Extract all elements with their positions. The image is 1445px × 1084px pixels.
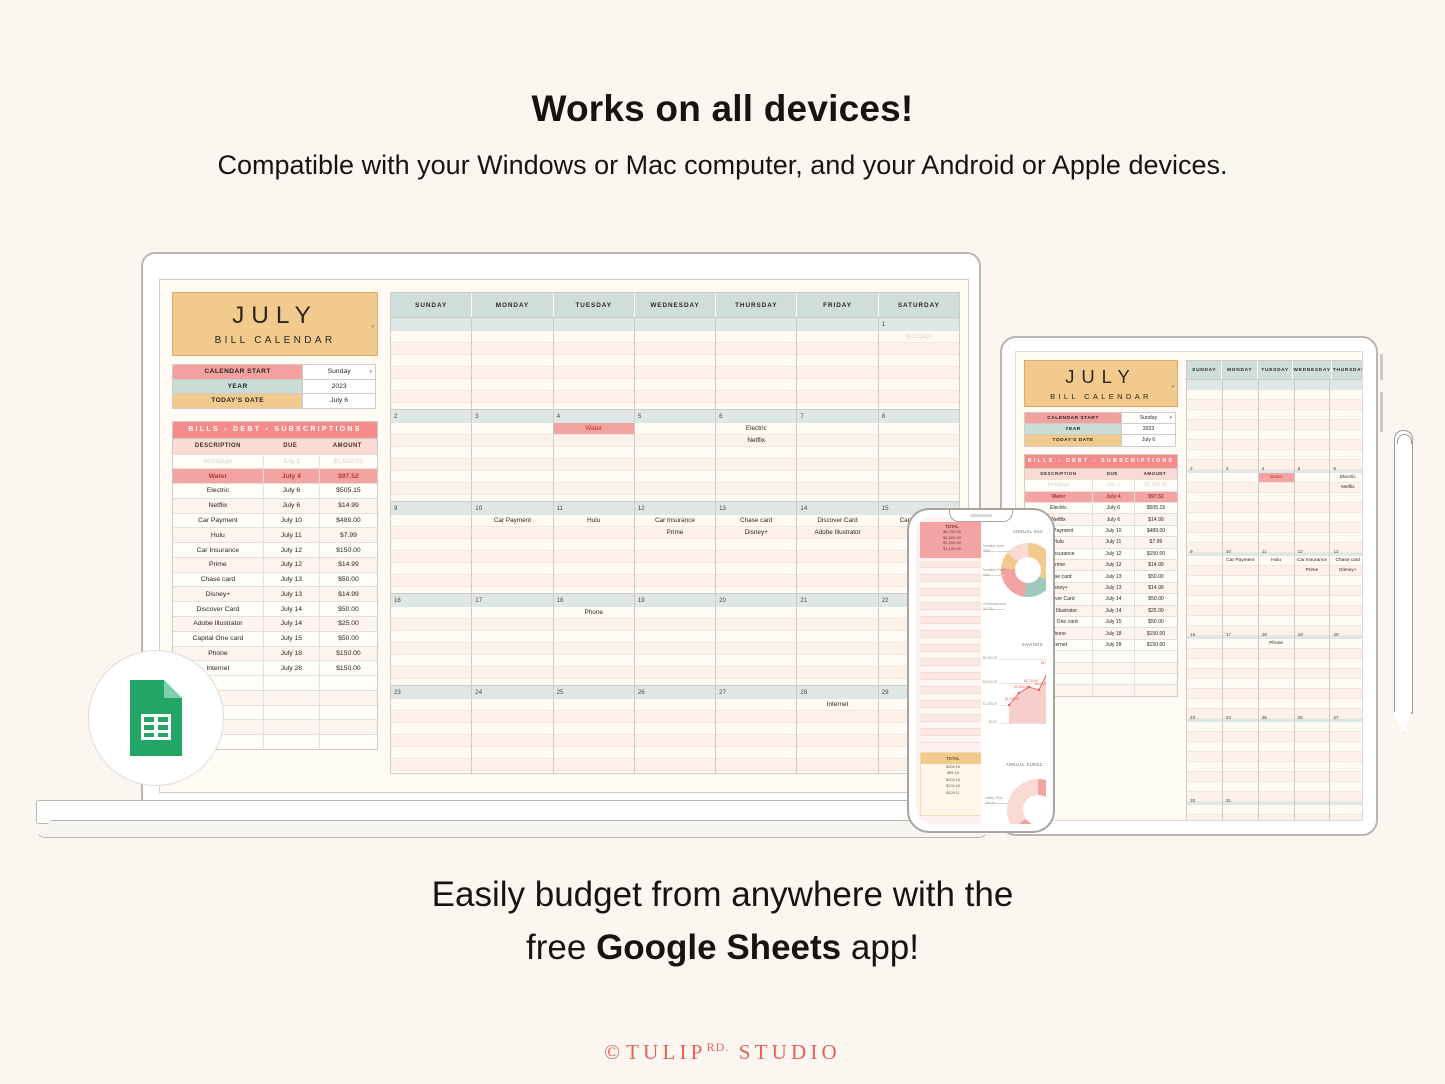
calendar-empty-line[interactable]: [1223, 533, 1258, 543]
date-number[interactable]: 4: [1259, 463, 1295, 473]
calendar-empty-line[interactable]: [1295, 782, 1330, 792]
calendar-event[interactable]: Hulu: [1259, 556, 1294, 566]
calendar-empty-line[interactable]: [472, 379, 552, 391]
date-number[interactable]: [797, 318, 878, 331]
calendar-empty-line[interactable]: [554, 343, 634, 355]
calendar-empty-line[interactable]: [716, 539, 796, 551]
calendar-empty-line[interactable]: [716, 699, 796, 711]
date-number[interactable]: [1223, 380, 1259, 390]
calendar-empty-line[interactable]: [1223, 513, 1258, 523]
calendar-empty-line[interactable]: [797, 379, 877, 391]
calendar-empty-line[interactable]: [1330, 576, 1363, 586]
calendar-empty-line[interactable]: [1295, 430, 1330, 440]
calendar-empty-line[interactable]: [472, 667, 552, 679]
calendar-empty-line[interactable]: [716, 459, 796, 471]
date-number[interactable]: 27: [1330, 712, 1363, 722]
calendar-empty-line[interactable]: [1223, 772, 1258, 782]
date-number[interactable]: 10: [472, 502, 553, 515]
calendar-empty-line[interactable]: [1223, 649, 1258, 659]
calendar-empty-line[interactable]: [716, 735, 796, 747]
bill-row[interactable]: Netflix July 6 $14.99: [173, 498, 377, 513]
calendar-empty-line[interactable]: [472, 551, 552, 563]
date-number[interactable]: 26: [1295, 712, 1331, 722]
calendar-empty-line[interactable]: [797, 331, 877, 343]
date-number[interactable]: 18: [554, 594, 635, 607]
calendar-empty-line[interactable]: [391, 367, 471, 379]
calendar-day-cell[interactable]: [1259, 805, 1295, 821]
calendar-empty-line[interactable]: [1295, 639, 1330, 649]
calendar-empty-line[interactable]: [716, 483, 796, 495]
date-number[interactable]: 19: [1295, 629, 1331, 639]
calendar-empty-line[interactable]: [472, 447, 552, 459]
calendar-empty-line[interactable]: [635, 607, 715, 619]
calendar-empty-line[interactable]: [1259, 732, 1294, 742]
calendar-empty-line[interactable]: [554, 539, 634, 551]
calendar-empty-line[interactable]: [554, 447, 634, 459]
calendar-empty-line[interactable]: [1223, 805, 1258, 815]
calendar-empty-line[interactable]: [716, 391, 796, 403]
calendar-empty-line[interactable]: [635, 759, 715, 771]
calendar-event[interactable]: Prime: [1295, 566, 1330, 576]
calendar-empty-line[interactable]: [716, 367, 796, 379]
date-number[interactable]: [391, 318, 472, 331]
calendar-empty-line[interactable]: [391, 435, 471, 447]
calendar-empty-line[interactable]: [391, 747, 471, 759]
calendar-empty-line[interactable]: [797, 747, 877, 759]
calendar-empty-line[interactable]: [716, 771, 796, 774]
calendar-day-cell[interactable]: [797, 423, 878, 501]
calendar-empty-line[interactable]: [1330, 493, 1363, 503]
calendar-empty-line[interactable]: [1330, 762, 1363, 772]
calendar-empty-line[interactable]: [1259, 503, 1294, 513]
calendar-empty-line[interactable]: [554, 551, 634, 563]
calendar-empty-line[interactable]: [1187, 606, 1222, 616]
date-number[interactable]: [716, 318, 797, 331]
calendar-day-cell[interactable]: Phone: [554, 607, 635, 685]
calendar-empty-line[interactable]: [879, 423, 959, 435]
date-number[interactable]: 28: [797, 686, 878, 699]
calendar-empty-line[interactable]: [1330, 815, 1363, 821]
date-number[interactable]: 17: [472, 594, 553, 607]
calendar-empty-line[interactable]: [797, 575, 877, 587]
date-number[interactable]: 2: [1187, 463, 1223, 473]
date-number[interactable]: 5: [635, 410, 716, 423]
calendar-empty-line[interactable]: [1187, 483, 1222, 493]
calendar-day-cell[interactable]: Hulu: [1259, 556, 1295, 628]
calendar-empty-line[interactable]: [635, 723, 715, 735]
calendar-empty-line[interactable]: [1259, 805, 1294, 815]
calendar-empty-line[interactable]: [554, 563, 634, 575]
calendar-empty-line[interactable]: [1295, 420, 1330, 430]
calendar-empty-line[interactable]: [1330, 689, 1363, 699]
calendar-empty-line[interactable]: [797, 723, 877, 735]
date-number[interactable]: 30: [1187, 795, 1223, 805]
calendar-empty-line[interactable]: [1259, 679, 1294, 689]
calendar-empty-line[interactable]: [1223, 732, 1258, 742]
tablet-button-top[interactable]: [1380, 354, 1383, 380]
calendar-empty-line[interactable]: [716, 575, 796, 587]
calendar-day-cell[interactable]: Internet: [797, 699, 878, 774]
calendar-day-cell[interactable]: [1223, 639, 1259, 711]
calendar-day-cell[interactable]: [1259, 722, 1295, 794]
calendar-empty-line[interactable]: [472, 527, 552, 539]
calendar-empty-line[interactable]: [1259, 649, 1294, 659]
date-number[interactable]: 12: [635, 502, 716, 515]
calendar-event[interactable]: Water: [554, 423, 634, 435]
calendar-empty-line[interactable]: [472, 563, 552, 575]
calendar-empty-line[interactable]: [554, 331, 634, 343]
calendar-empty-line[interactable]: [1295, 616, 1330, 626]
calendar-day-cell[interactable]: [1330, 805, 1363, 821]
calendar-empty-line[interactable]: [797, 435, 877, 447]
calendar-empty-line[interactable]: [554, 759, 634, 771]
calendar-empty-line[interactable]: [797, 447, 877, 459]
calendar-empty-line[interactable]: [1295, 772, 1330, 782]
calendar-empty-line[interactable]: [472, 539, 552, 551]
calendar-empty-line[interactable]: [635, 619, 715, 631]
calendar-empty-line[interactable]: [1223, 576, 1258, 586]
calendar-empty-line[interactable]: [1295, 732, 1330, 742]
calendar-empty-line[interactable]: [472, 575, 552, 587]
calendar-empty-line[interactable]: [391, 575, 471, 587]
calendar-empty-line[interactable]: [391, 759, 471, 771]
calendar-day-cell[interactable]: [472, 699, 553, 774]
setting-value[interactable]: July 6: [302, 394, 375, 408]
calendar-empty-line[interactable]: [1295, 762, 1330, 772]
calendar-empty-line[interactable]: [391, 619, 471, 631]
calendar-day-cell[interactable]: [1295, 805, 1331, 821]
calendar-empty-line[interactable]: [716, 655, 796, 667]
calendar-empty-line[interactable]: [716, 747, 796, 759]
calendar-empty-line[interactable]: [554, 667, 634, 679]
calendar-event[interactable]: Netflix: [1330, 483, 1363, 493]
calendar-empty-line[interactable]: [1295, 513, 1330, 523]
calendar-empty-line[interactable]: [1223, 639, 1258, 649]
setting-value[interactable]: July 6: [1121, 435, 1175, 445]
calendar-empty-line[interactable]: [554, 735, 634, 747]
date-number[interactable]: 3: [1223, 463, 1259, 473]
date-number[interactable]: 23: [391, 686, 472, 699]
date-number[interactable]: 11: [554, 502, 635, 515]
calendar-empty-line[interactable]: [1259, 772, 1294, 782]
calendar-empty-line[interactable]: [1259, 742, 1294, 752]
date-number[interactable]: [1330, 380, 1363, 390]
calendar-empty-line[interactable]: [635, 355, 715, 367]
date-number[interactable]: 8: [879, 410, 959, 423]
calendar-empty-line[interactable]: [391, 735, 471, 747]
calendar-day-cell[interactable]: [1330, 722, 1363, 794]
calendar-empty-line[interactable]: [554, 747, 634, 759]
date-number[interactable]: 25: [554, 686, 635, 699]
calendar-empty-line[interactable]: [1187, 503, 1222, 513]
calendar-empty-line[interactable]: [1187, 815, 1222, 821]
calendar-empty-line[interactable]: [1295, 596, 1330, 606]
calendar-empty-line[interactable]: [1223, 390, 1258, 400]
calendar-day-cell[interactable]: [554, 331, 635, 409]
calendar-empty-line[interactable]: [635, 435, 715, 447]
date-number[interactable]: 13: [716, 502, 797, 515]
calendar-event[interactable]: Chase card: [716, 515, 796, 527]
calendar-empty-line[interactable]: [1187, 782, 1222, 792]
calendar-empty-line[interactable]: [472, 607, 552, 619]
calendar-empty-line[interactable]: [554, 723, 634, 735]
calendar-event[interactable]: Electric: [716, 423, 796, 435]
calendar-empty-line[interactable]: [554, 631, 634, 643]
calendar-empty-line[interactable]: [1223, 440, 1258, 450]
calendar-empty-line[interactable]: [1330, 732, 1363, 742]
calendar-empty-line[interactable]: [1223, 616, 1258, 626]
calendar-empty-line[interactable]: [879, 379, 959, 391]
calendar-empty-line[interactable]: [391, 607, 471, 619]
calendar-empty-line[interactable]: [797, 483, 877, 495]
calendar-day-cell[interactable]: Water: [554, 423, 635, 501]
calendar-empty-line[interactable]: [716, 379, 796, 391]
date-number[interactable]: 12: [1295, 546, 1331, 556]
calendar-empty-line[interactable]: [1330, 586, 1363, 596]
calendar-empty-line[interactable]: [1259, 762, 1294, 772]
calendar-empty-line[interactable]: [472, 343, 552, 355]
calendar-day-cell[interactable]: [472, 331, 553, 409]
calendar-empty-line[interactable]: [879, 447, 959, 459]
calendar-empty-line[interactable]: [1259, 722, 1294, 732]
calendar-empty-line[interactable]: [554, 379, 634, 391]
calendar-empty-line[interactable]: [797, 619, 877, 631]
calendar-empty-line[interactable]: [1295, 473, 1330, 483]
calendar-empty-line[interactable]: [1187, 679, 1222, 689]
calendar-empty-line[interactable]: [391, 355, 471, 367]
calendar-day-cell[interactable]: [1223, 722, 1259, 794]
calendar-empty-line[interactable]: [1295, 483, 1330, 493]
calendar-empty-line[interactable]: [1295, 493, 1330, 503]
calendar-empty-line[interactable]: [1330, 649, 1363, 659]
bill-row[interactable]: Water July 4 $97.52: [173, 468, 377, 483]
calendar-day-cell[interactable]: [635, 699, 716, 774]
calendar-empty-line[interactable]: [1187, 596, 1222, 606]
calendar-empty-line[interactable]: [1330, 805, 1363, 815]
calendar-empty-line[interactable]: [1330, 639, 1363, 649]
calendar-empty-line[interactable]: [716, 667, 796, 679]
calendar-empty-line[interactable]: [472, 367, 552, 379]
calendar-empty-line[interactable]: [554, 643, 634, 655]
calendar-empty-line[interactable]: [1330, 722, 1363, 732]
bill-row[interactable]: Prime July 12 $14.99: [173, 557, 377, 572]
calendar-day-cell[interactable]: [635, 607, 716, 685]
calendar-empty-line[interactable]: [1187, 420, 1222, 430]
date-number[interactable]: 27: [716, 686, 797, 699]
setting-value[interactable]: Sunday ▾: [302, 365, 375, 379]
calendar-day-cell[interactable]: ElectricNetflix: [1330, 473, 1363, 545]
calendar-empty-line[interactable]: [716, 619, 796, 631]
date-number[interactable]: 16: [1187, 629, 1223, 639]
calendar-empty-line[interactable]: [1223, 420, 1258, 430]
calendar-day-cell[interactable]: Car Payment: [472, 515, 553, 593]
calendar-empty-line[interactable]: [1223, 483, 1258, 493]
calendar-empty-line[interactable]: [1330, 390, 1363, 400]
calendar-day-cell[interactable]: Car Payment: [1223, 556, 1259, 628]
calendar-event[interactable]: Car Payment: [472, 515, 552, 527]
calendar-empty-line[interactable]: [1187, 586, 1222, 596]
calendar-empty-line[interactable]: [1187, 430, 1222, 440]
calendar-empty-line[interactable]: [391, 331, 471, 343]
calendar-empty-line[interactable]: [1223, 722, 1258, 732]
calendar-empty-line[interactable]: [1187, 390, 1222, 400]
calendar-day-cell[interactable]: [1187, 805, 1223, 821]
calendar-empty-line[interactable]: [1223, 473, 1258, 483]
calendar-empty-line[interactable]: [716, 759, 796, 771]
calendar-empty-line[interactable]: [635, 711, 715, 723]
calendar-empty-line[interactable]: [635, 447, 715, 459]
calendar-event[interactable]: Car Insurance: [1295, 556, 1330, 566]
calendar-empty-line[interactable]: [554, 355, 634, 367]
calendar-empty-line[interactable]: [1295, 523, 1330, 533]
calendar-event[interactable]: Electric: [1330, 473, 1363, 483]
date-number[interactable]: 20: [1330, 629, 1363, 639]
calendar-empty-line[interactable]: [797, 459, 877, 471]
calendar-empty-line[interactable]: [797, 355, 877, 367]
calendar-day-cell[interactable]: [1295, 722, 1331, 794]
calendar-empty-line[interactable]: [797, 551, 877, 563]
calendar-empty-line[interactable]: [1223, 596, 1258, 606]
calendar-empty-line[interactable]: [1259, 440, 1294, 450]
calendar-event[interactable]: Car Insurance: [635, 515, 715, 527]
calendar-empty-line[interactable]: [879, 367, 959, 379]
calendar-empty-line[interactable]: [879, 459, 959, 471]
calendar-empty-line[interactable]: [1295, 503, 1330, 513]
date-number[interactable]: 6: [1330, 463, 1363, 473]
calendar-empty-line[interactable]: [797, 539, 877, 551]
calendar-empty-line[interactable]: [635, 735, 715, 747]
calendar-empty-line[interactable]: [472, 723, 552, 735]
calendar-empty-line[interactable]: [1330, 596, 1363, 606]
calendar-empty-line[interactable]: [554, 435, 634, 447]
calendar-empty-line[interactable]: [797, 563, 877, 575]
calendar-empty-line[interactable]: [472, 643, 552, 655]
calendar-empty-line[interactable]: [1330, 513, 1363, 523]
date-number[interactable]: 4: [554, 410, 635, 423]
calendar-empty-line[interactable]: [716, 331, 796, 343]
title-dropdown-caret[interactable]: ▾: [371, 324, 374, 330]
calendar-empty-line[interactable]: [1187, 440, 1222, 450]
calendar-empty-line[interactable]: [1187, 639, 1222, 649]
bill-row[interactable]: Chase card July 13 $50.00: [173, 572, 377, 587]
calendar-empty-line[interactable]: [716, 723, 796, 735]
bill-row[interactable]: Disney+ July 13 $14.99: [173, 586, 377, 601]
date-number[interactable]: 24: [472, 686, 553, 699]
calendar-empty-line[interactable]: [1223, 523, 1258, 533]
calendar-empty-line[interactable]: [635, 575, 715, 587]
calendar-empty-line[interactable]: [716, 643, 796, 655]
calendar-empty-line[interactable]: [1330, 503, 1363, 513]
calendar-day-cell[interactable]: [1295, 390, 1331, 462]
calendar-empty-line[interactable]: [1187, 659, 1222, 669]
calendar-empty-line[interactable]: [716, 711, 796, 723]
calendar-empty-line[interactable]: [1187, 722, 1222, 732]
calendar-empty-line[interactable]: [635, 459, 715, 471]
date-number[interactable]: 9: [391, 502, 472, 515]
calendar-empty-line[interactable]: [1259, 596, 1294, 606]
calendar-empty-line[interactable]: [1259, 533, 1294, 543]
calendar-empty-line[interactable]: [1187, 762, 1222, 772]
calendar-empty-line[interactable]: [879, 471, 959, 483]
calendar-empty-line[interactable]: [1187, 669, 1222, 679]
calendar-empty-line[interactable]: [391, 723, 471, 735]
date-number[interactable]: 2: [391, 410, 472, 423]
calendar-empty-line[interactable]: [1187, 473, 1222, 483]
calendar-empty-line[interactable]: [391, 551, 471, 563]
bill-row[interactable]: Electric July 6 $505.15: [1025, 502, 1177, 513]
calendar-empty-line[interactable]: [1259, 782, 1294, 792]
calendar-empty-line[interactable]: [1187, 450, 1222, 460]
calendar-empty-line[interactable]: [1187, 523, 1222, 533]
calendar-empty-line[interactable]: [391, 527, 471, 539]
calendar-empty-line[interactable]: [879, 355, 959, 367]
calendar-event[interactable]: Mortgage: [879, 331, 959, 343]
calendar-empty-line[interactable]: [1223, 503, 1258, 513]
calendar-empty-line[interactable]: [391, 471, 471, 483]
date-number[interactable]: 6: [716, 410, 797, 423]
calendar-empty-line[interactable]: [391, 771, 471, 774]
calendar-event[interactable]: Netflix: [716, 435, 796, 447]
calendar-empty-line[interactable]: [1330, 450, 1363, 460]
calendar-empty-line[interactable]: [1295, 659, 1330, 669]
calendar-empty-line[interactable]: [1330, 699, 1363, 709]
calendar-empty-line[interactable]: [391, 643, 471, 655]
date-number[interactable]: 20: [716, 594, 797, 607]
calendar-empty-line[interactable]: [797, 759, 877, 771]
calendar-empty-line[interactable]: [1187, 400, 1222, 410]
calendar-empty-line[interactable]: [1259, 450, 1294, 460]
date-number[interactable]: 7: [797, 410, 878, 423]
calendar-day-cell[interactable]: Water: [1259, 473, 1295, 545]
calendar-empty-line[interactable]: [554, 575, 634, 587]
calendar-empty-line[interactable]: [716, 355, 796, 367]
calendar-empty-line[interactable]: [391, 483, 471, 495]
date-number[interactable]: 26: [635, 686, 716, 699]
calendar-empty-line[interactable]: [391, 459, 471, 471]
calendar-empty-line[interactable]: [472, 655, 552, 667]
calendar-empty-line[interactable]: [1187, 805, 1222, 815]
calendar-empty-line[interactable]: [797, 607, 877, 619]
calendar-empty-line[interactable]: [1295, 576, 1330, 586]
calendar-empty-line[interactable]: [472, 771, 552, 774]
date-number[interactable]: 21: [797, 594, 878, 607]
date-number[interactable]: 10: [1223, 546, 1259, 556]
calendar-day-cell[interactable]: [1187, 556, 1223, 628]
date-number[interactable]: 16: [391, 594, 472, 607]
calendar-day-cell[interactable]: [1187, 390, 1223, 462]
bill-row[interactable]: Electric July 6 $505.15: [173, 483, 377, 498]
date-number[interactable]: [472, 318, 553, 331]
calendar-empty-line[interactable]: [1187, 752, 1222, 762]
calendar-empty-line[interactable]: [1330, 742, 1363, 752]
calendar-day-cell[interactable]: [797, 331, 878, 409]
calendar-empty-line[interactable]: [797, 471, 877, 483]
calendar-empty-line[interactable]: [391, 563, 471, 575]
calendar-day-cell[interactable]: [1295, 639, 1331, 711]
calendar-empty-line[interactable]: [472, 631, 552, 643]
calendar-empty-line[interactable]: [391, 699, 471, 711]
calendar-empty-line[interactable]: [1330, 772, 1363, 782]
calendar-empty-line[interactable]: [797, 667, 877, 679]
calendar-empty-line[interactable]: [1187, 742, 1222, 752]
calendar-empty-line[interactable]: [1259, 523, 1294, 533]
date-number[interactable]: 17: [1223, 629, 1259, 639]
calendar-empty-line[interactable]: [716, 551, 796, 563]
calendar-empty-line[interactable]: [472, 459, 552, 471]
calendar-empty-line[interactable]: [1295, 450, 1330, 460]
calendar-empty-line[interactable]: [1259, 410, 1294, 420]
calendar-empty-line[interactable]: [1295, 752, 1330, 762]
